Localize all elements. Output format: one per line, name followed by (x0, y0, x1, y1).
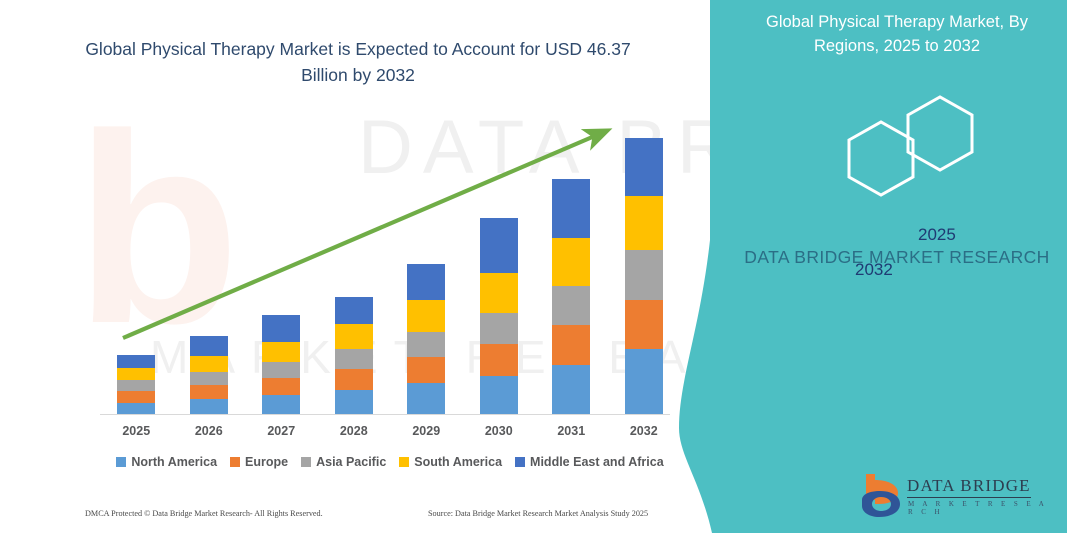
legend-item[interactable]: Asia Pacific (301, 455, 386, 469)
hexagon-2025-shape (908, 97, 972, 170)
x-axis-label: 2026 (179, 424, 239, 438)
bar-segment[interactable] (480, 344, 518, 376)
chart-legend: North AmericaEuropeAsia PacificSouth Ame… (100, 455, 680, 469)
panel-brand-text: DATA BRIDGE MARKET RESEARCH (732, 243, 1062, 272)
hexagon-group: 2025 2032 (712, 95, 1067, 220)
bar-segment[interactable] (407, 383, 445, 415)
bar-group[interactable] (552, 179, 590, 415)
bar-segment[interactable] (190, 385, 228, 399)
bar-group[interactable] (117, 355, 155, 415)
x-axis-labels: 20252026202720282029203020312032 (100, 424, 680, 446)
bar-segment[interactable] (625, 349, 663, 415)
legend-label: Europe (245, 455, 288, 469)
right-panel: Global Physical Therapy Market, By Regio… (712, 0, 1067, 533)
legend-swatch (116, 457, 126, 467)
bar-segment[interactable] (407, 357, 445, 383)
bar-segment[interactable] (117, 355, 155, 368)
bar-group[interactable] (407, 264, 445, 415)
x-axis-label: 2025 (106, 424, 166, 438)
bar-segment[interactable] (625, 250, 663, 300)
x-axis-label: 2032 (614, 424, 674, 438)
legend-swatch (301, 457, 311, 467)
hexagon-2025-label: 2025 (918, 225, 956, 245)
bar-segment[interactable] (190, 356, 228, 372)
bar-segment[interactable] (407, 264, 445, 300)
legend-label: Middle East and Africa (530, 455, 664, 469)
bar-group[interactable] (480, 218, 518, 415)
bar-segment[interactable] (262, 315, 300, 342)
legend-label: North America (131, 455, 217, 469)
bar-group[interactable] (190, 336, 228, 415)
bar-segment[interactable] (117, 380, 155, 391)
chart-container: Global Physical Therapy Market is Expect… (0, 0, 712, 533)
legend-item[interactable]: Europe (230, 455, 288, 469)
bar-segment[interactable] (480, 376, 518, 415)
bar-group[interactable] (625, 138, 663, 415)
bar-segment[interactable] (335, 297, 373, 324)
data-bridge-logo: DATA BRIDGE M A R K E T R E S E A R C H (860, 470, 1060, 525)
x-axis-label: 2029 (396, 424, 456, 438)
bar-group[interactable] (262, 315, 300, 415)
logo-mark-icon (860, 470, 906, 522)
bar-segment[interactable] (625, 196, 663, 250)
bar-segment[interactable] (190, 399, 228, 415)
legend-swatch (515, 457, 525, 467)
bar-segment[interactable] (190, 372, 228, 385)
hexagon-2032-shape (849, 122, 913, 195)
bar-segment[interactable] (407, 300, 445, 332)
legend-label: South America (414, 455, 502, 469)
bar-segment[interactable] (335, 390, 373, 415)
bar-segment[interactable] (625, 300, 663, 349)
bar-segment[interactable] (552, 179, 590, 238)
panel-title: Global Physical Therapy Market, By Regio… (732, 10, 1062, 58)
legend-item[interactable]: Middle East and Africa (515, 455, 664, 469)
bar-group[interactable] (335, 297, 373, 415)
bar-segment[interactable] (407, 332, 445, 357)
x-axis-label: 2028 (324, 424, 384, 438)
logo-subtitle: M A R K E T R E S E A R C H (908, 500, 1060, 516)
footer-source: Source: Data Bridge Market Research Mark… (428, 509, 648, 518)
bar-segment[interactable] (552, 325, 590, 365)
bar-segment[interactable] (117, 368, 155, 380)
bar-segment[interactable] (480, 313, 518, 344)
footer-copyright: DMCA Protected © Data Bridge Market Rese… (85, 509, 323, 518)
bar-segment[interactable] (552, 365, 590, 415)
bar-segment[interactable] (552, 238, 590, 286)
bar-segment[interactable] (262, 342, 300, 362)
bar-segment[interactable] (625, 138, 663, 196)
x-axis-label: 2031 (541, 424, 601, 438)
legend-item[interactable]: North America (116, 455, 217, 469)
x-axis-line (100, 414, 670, 415)
bar-segment[interactable] (262, 378, 300, 395)
plot-area (100, 120, 680, 415)
bar-segment[interactable] (552, 286, 590, 325)
bar-segment[interactable] (335, 349, 373, 369)
legend-item[interactable]: South America (399, 455, 502, 469)
bar-segment[interactable] (335, 324, 373, 349)
bar-segment[interactable] (480, 218, 518, 273)
chart-title: Global Physical Therapy Market is Expect… (78, 36, 638, 88)
footer: DMCA Protected © Data Bridge Market Rese… (0, 505, 712, 525)
legend-swatch (399, 457, 409, 467)
legend-label: Asia Pacific (316, 455, 386, 469)
x-axis-label: 2030 (469, 424, 529, 438)
bar-segment[interactable] (262, 362, 300, 378)
logo-name: DATA BRIDGE (907, 476, 1031, 498)
bar-segment[interactable] (262, 395, 300, 415)
bar-segment[interactable] (117, 391, 155, 403)
bar-segment[interactable] (335, 369, 373, 390)
bar-segment[interactable] (480, 273, 518, 313)
legend-swatch (230, 457, 240, 467)
x-axis-label: 2027 (251, 424, 311, 438)
bar-segment[interactable] (190, 336, 228, 356)
